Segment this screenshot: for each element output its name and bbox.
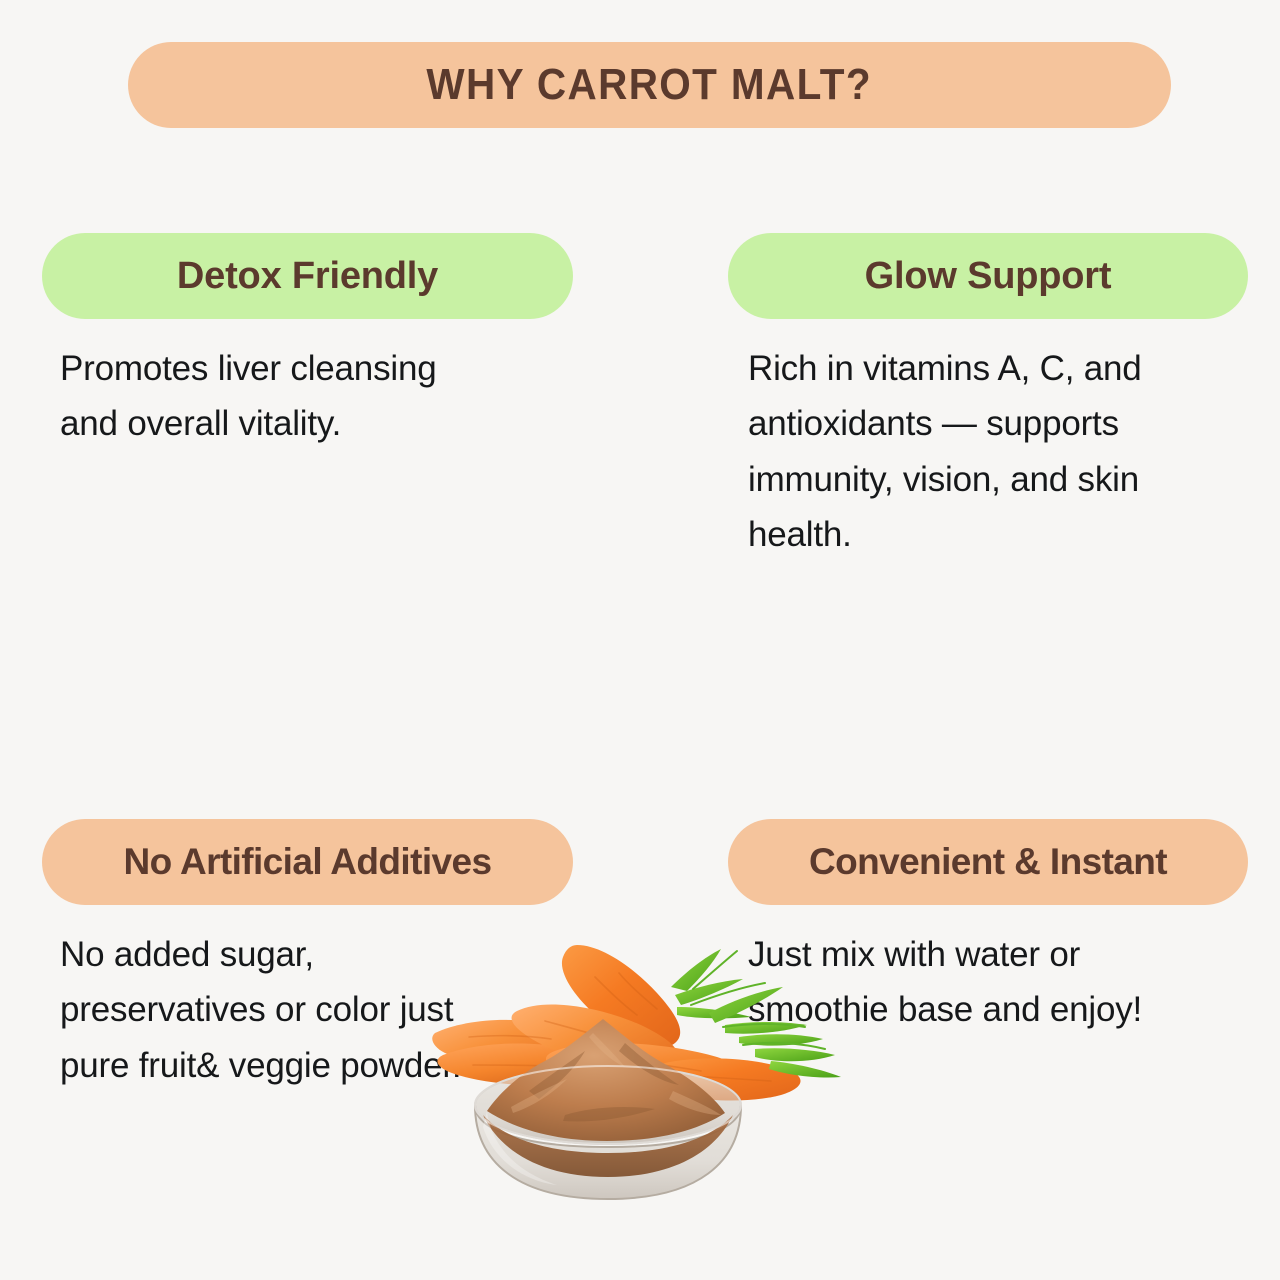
feature-body-text: Promotes liver cleansing and overall vit… <box>42 341 482 452</box>
feature-heading-pill-glow-support: Glow Support <box>728 233 1248 319</box>
feature-heading-label: Detox Friendly <box>177 255 438 298</box>
feature-row-1: Detox Friendly Promotes liver cleansing … <box>0 233 1280 586</box>
feature-card-detox-friendly: Detox Friendly Promotes liver cleansing … <box>42 233 573 452</box>
feature-body-text: No added sugar, preservatives or color j… <box>42 927 482 1093</box>
infographic-page: WHY CARROT MALT? Detox Friendly Promotes… <box>0 0 1280 1280</box>
feature-card-glow-support: Glow Support Rich in vitamins A, C, and … <box>728 233 1248 562</box>
feature-heading-label: Convenient & Instant <box>809 841 1167 883</box>
page-title-banner: WHY CARROT MALT? <box>128 42 1171 128</box>
feature-heading-label: No Artificial Additives <box>124 841 492 883</box>
feature-body-text: Rich in vitamins A, C, and antioxidants … <box>728 341 1248 562</box>
page-title: WHY CARROT MALT? <box>427 60 873 110</box>
feature-heading-pill-convenient-and-instant: Convenient & Instant <box>728 819 1248 905</box>
feature-grid: Detox Friendly Promotes liver cleansing … <box>0 233 1280 586</box>
feature-heading-pill-no-artificial-additives: No Artificial Additives <box>42 819 573 905</box>
carrots-and-powder-bowl-image <box>425 915 855 1225</box>
feature-heading-label: Glow Support <box>865 255 1112 298</box>
feature-heading-pill-detox-friendly: Detox Friendly <box>42 233 573 319</box>
